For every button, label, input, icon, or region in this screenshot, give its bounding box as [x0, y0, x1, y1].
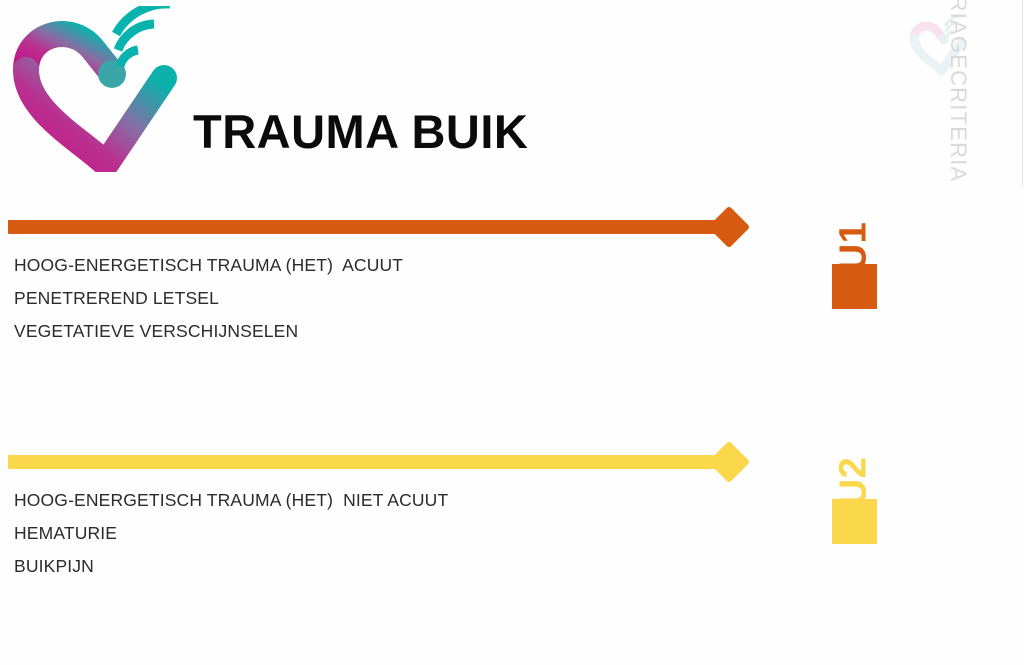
criteria-list-u2: HOOG-ENERGETISCH TRAUMA (HET) NIET ACUUT… — [14, 484, 448, 583]
page-title: TRAUMA BUIK — [193, 104, 528, 159]
urgency-color-swatch — [832, 499, 877, 544]
criteria-item: VEGETATIEVE VERSCHIJNSELEN — [14, 315, 403, 348]
watermark: TRIAGECRITERIA — [900, 0, 1024, 200]
watermark-label: TRIAGECRITERIA — [945, 0, 971, 181]
urgency-color-swatch — [832, 264, 877, 309]
urgency-block-u1: HOOG-ENERGETISCH TRAUMA (HET) ACUUT PENE… — [0, 205, 1024, 380]
triagecriteria-heart-wifi-logo — [8, 6, 194, 172]
arrow-shaft — [8, 455, 730, 469]
urgency-block-u2: HOOG-ENERGETISCH TRAUMA (HET) NIET ACUUT… — [0, 440, 1024, 615]
criteria-item: BUIKPIJN — [14, 550, 448, 583]
slide-header: TRAUMA BUIK — [0, 0, 620, 190]
criteria-item: PENETREREND LETSEL — [14, 282, 403, 315]
arrow-shaft — [8, 220, 730, 234]
arrow-head-diamond — [708, 206, 750, 248]
criteria-item: HOOG-ENERGETISCH TRAUMA (HET) ACUUT — [14, 249, 403, 282]
triagecriteria-heart-wifi-logo-faded — [908, 14, 972, 76]
arrow-head-diamond — [708, 441, 750, 483]
watermark-divider — [1022, 0, 1023, 186]
criteria-item: HOOG-ENERGETISCH TRAUMA (HET) NIET ACUUT — [14, 484, 448, 517]
criteria-item: HEMATURIE — [14, 517, 448, 550]
criteria-list-u1: HOOG-ENERGETISCH TRAUMA (HET) ACUUT PENE… — [14, 249, 403, 348]
slide-canvas: TRAUMA BUIK TRIAGECRITERIA HOOG-ENERGETI… — [0, 0, 1024, 665]
